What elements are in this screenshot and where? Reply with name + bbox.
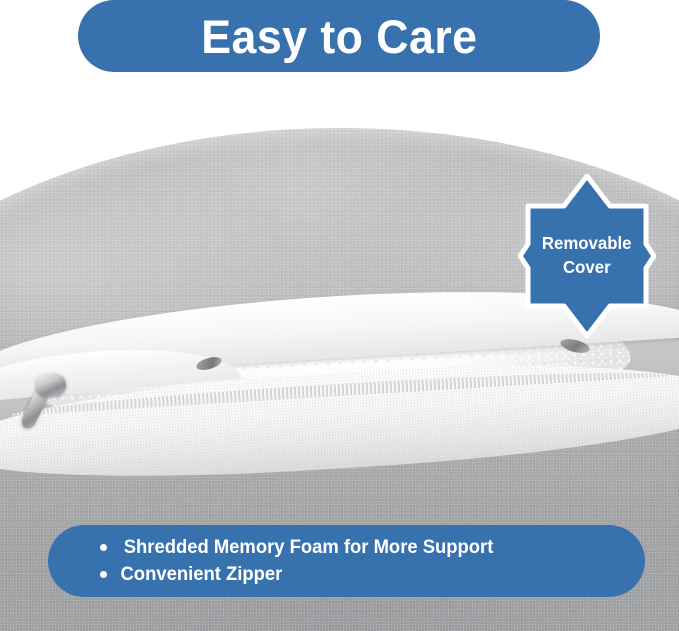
feature-item: Convenient Zipper <box>100 564 645 586</box>
feature-callout: Shredded Memory Foam for More Support Co… <box>48 525 645 597</box>
bullet-icon <box>100 571 107 578</box>
bullet-icon <box>100 544 107 551</box>
page-title: Easy to Care <box>201 13 477 60</box>
feature-label: Convenient Zipper <box>121 564 283 586</box>
feature-item: Shredded Memory Foam for More Support <box>100 537 645 559</box>
header-banner: Easy to Care <box>78 0 600 72</box>
product-feature-image: Easy to Care Removable Cover Shredded Me… <box>0 0 679 631</box>
eight-point-star-icon <box>518 174 656 338</box>
feature-label: Shredded Memory Foam for More Support <box>124 537 494 559</box>
removable-cover-badge: Removable Cover <box>518 174 656 338</box>
